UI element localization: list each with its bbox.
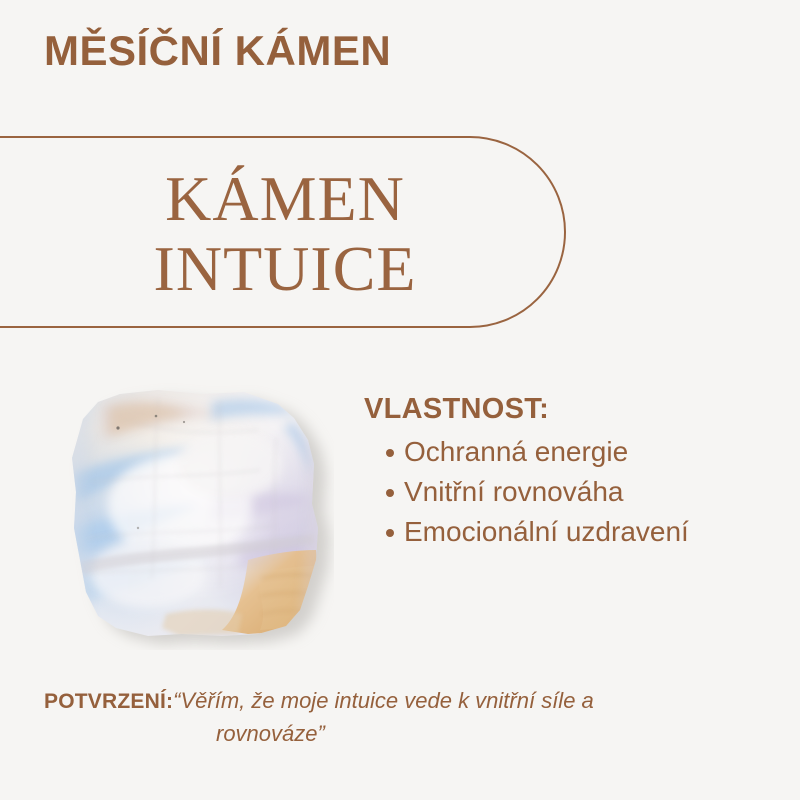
properties-list: Ochranná energie Vnitřní rovnováha Emoci… — [364, 432, 784, 551]
moonstone-image — [62, 378, 334, 650]
affirmation-label: POTVRZENÍ: — [44, 690, 173, 713]
list-item-label: Vnitřní rovnováha — [404, 476, 623, 507]
headline-line-2: INTUICE — [154, 236, 417, 302]
affirmation-quote-line-2: rovnováze” — [44, 717, 744, 751]
bullet-icon — [386, 449, 394, 457]
poster-canvas: MĚSÍČNÍ KÁMEN KÁMEN INTUICE — [0, 0, 800, 800]
affirmation-section: POTVRZENÍ:“Věřím, že moje intuice vede k… — [44, 684, 744, 751]
list-item: Ochranná energie — [364, 432, 784, 472]
headline-pill-content: KÁMEN INTUICE — [2, 138, 568, 330]
affirmation-quote-line-1: “Věřím, že moje intuice vede k vnitřní s… — [173, 688, 594, 713]
page-title: MĚSÍČNÍ KÁMEN — [44, 28, 391, 74]
bullet-icon — [386, 489, 394, 497]
affirmation-line-1-wrap: POTVRZENÍ:“Věřím, že moje intuice vede k… — [44, 684, 744, 719]
headline-line-1: KÁMEN — [165, 166, 405, 232]
list-item-label: Ochranná energie — [404, 436, 628, 467]
bullet-icon — [386, 529, 394, 537]
list-item: Vnitřní rovnováha — [364, 472, 784, 512]
properties-heading: VLASTNOST: — [364, 393, 784, 426]
properties-section: VLASTNOST: Ochranná energie Vnitřní rovn… — [364, 393, 784, 551]
headline-pill-box: KÁMEN INTUICE — [0, 136, 566, 328]
list-item-label: Emocionální uzdravení — [404, 516, 689, 547]
moonstone-slab-icon — [62, 378, 334, 650]
list-item: Emocionální uzdravení — [364, 512, 784, 552]
